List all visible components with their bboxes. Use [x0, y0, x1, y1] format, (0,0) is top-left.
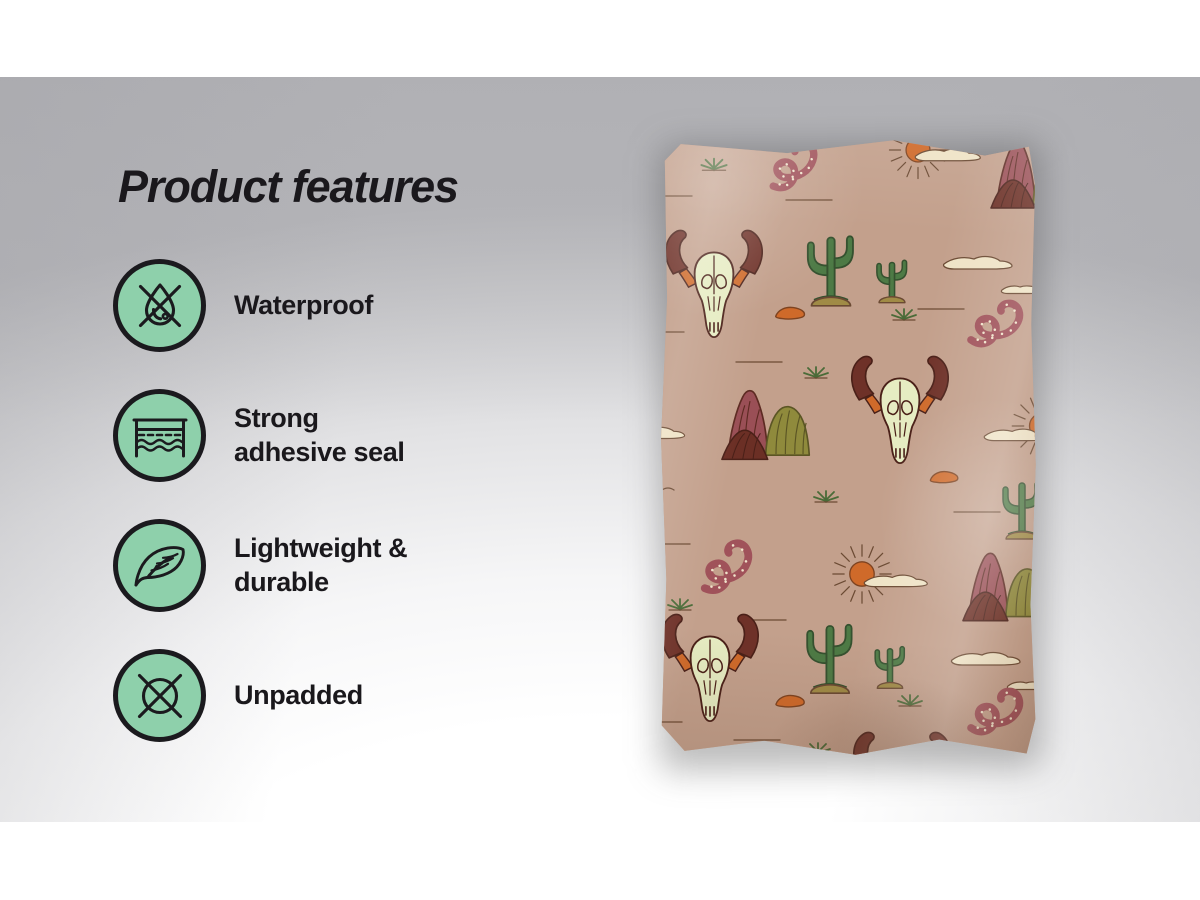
infographic-canvas: Product features Waterproof [0, 0, 1200, 900]
poly-mailer-bag [658, 134, 1038, 770]
features-column: Product features Waterproof [0, 77, 600, 822]
unpadded-crossed-circle-icon [113, 649, 206, 742]
adhesive-seal-icon [113, 389, 206, 482]
feature-label: Unpadded [234, 679, 363, 713]
waterproof-droplet-crossed-icon [113, 259, 206, 352]
desert-pattern [658, 134, 1038, 770]
feature-label: Waterproof [234, 289, 373, 323]
feature-item-waterproof: Waterproof [113, 259, 373, 352]
feature-item-unpadded: Unpadded [113, 649, 363, 742]
feather-icon [113, 519, 206, 612]
feature-label: Lightweight & durable [234, 532, 407, 600]
product-image [636, 120, 1056, 780]
feature-item-lightweight-durable: Lightweight & durable [113, 519, 407, 612]
feature-label: Strong adhesive seal [234, 402, 404, 470]
feature-item-adhesive-seal: Strong adhesive seal [113, 389, 404, 482]
page-title: Product features [118, 161, 458, 213]
